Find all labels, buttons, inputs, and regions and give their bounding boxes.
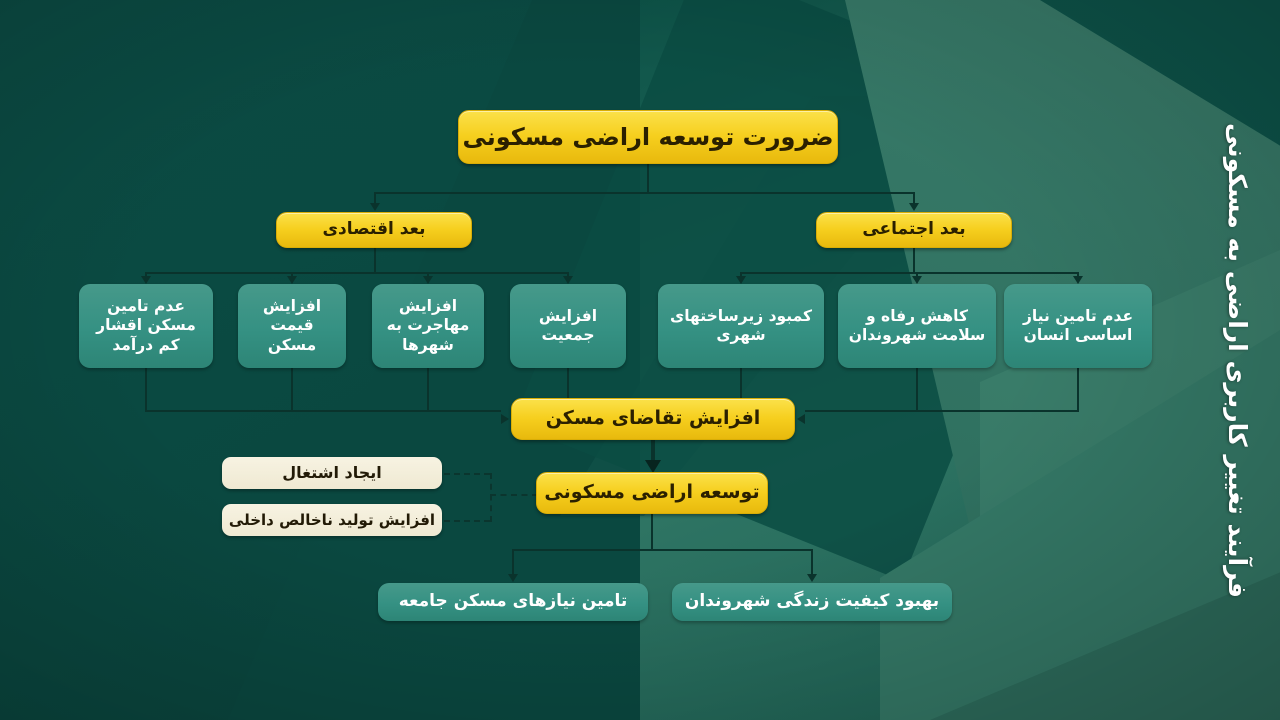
- connector-economic-branch-1: [145, 272, 147, 278]
- connector-to-social: [913, 192, 915, 204]
- connector-migration-down: [427, 368, 429, 410]
- watermark-text: فرآیند تغییر کاربری اراضی به مسکونی: [1223, 122, 1252, 597]
- arrow-to-social: [909, 203, 919, 211]
- arrow-migration: [423, 276, 433, 284]
- connector-demand-down: [651, 440, 655, 462]
- connector-to-economic: [374, 192, 376, 204]
- connector-social-branch-1: [740, 272, 742, 278]
- node-dimension-social[interactable]: بعد اجتماعی: [816, 212, 1012, 248]
- arrow-housing-needs: [508, 574, 518, 582]
- dashed-to-development-line: [490, 494, 538, 496]
- arrow-to-economic: [370, 203, 380, 211]
- watermark: فرآیند تغییر کاربری اراضی به مسکونی: [1202, 0, 1274, 720]
- node-title[interactable]: ضرورت توسعه اراضی مسکونی: [458, 110, 838, 164]
- node-dimension-economic[interactable]: بعد اقتصادی: [276, 212, 472, 248]
- node-housing-price[interactable]: افزایش قیمت مسکن: [238, 284, 346, 368]
- connector-economic-bar: [145, 272, 568, 274]
- connector-left-collect-stub: [145, 368, 147, 410]
- node-infrastructure[interactable]: کمبود زیرساختهای شهری: [658, 284, 824, 368]
- arrow-life-quality: [807, 574, 817, 582]
- connector-economic-branch-4: [567, 272, 569, 278]
- diagram-canvas: ضرورت توسعه اراضی مسکونی بعد اقتصادی بعد…: [0, 0, 1280, 720]
- dashed-sidebar-line: [490, 473, 492, 522]
- connector-to-housing-needs: [512, 549, 514, 575]
- arrow-right-into-demand: [797, 414, 805, 424]
- connector-left-collect-bar: [145, 410, 501, 412]
- connector-economic-branch-3: [427, 272, 429, 278]
- connector-social-branch-2: [916, 272, 918, 278]
- node-housing-needs[interactable]: تامین نیازهای مسکن جامعه: [378, 583, 648, 621]
- node-gdp[interactable]: افزایش تولید ناخالص داخلی: [222, 504, 442, 536]
- connector-economic-branch-2: [291, 272, 293, 278]
- arrow-population: [563, 276, 573, 284]
- node-migration[interactable]: افزایش مهاجرت به شهرها: [372, 284, 484, 368]
- connector-right-collect-bar: [805, 410, 1079, 412]
- node-population[interactable]: افزایش جمعیت: [510, 284, 626, 368]
- dashed-gdp-line: [444, 520, 490, 522]
- node-life-quality[interactable]: بهبود کیفیت زندگی شهروندان: [672, 583, 952, 621]
- node-housing-demand[interactable]: افزایش تقاضای مسکن: [511, 398, 795, 440]
- connector-basic-needs-down: [1077, 368, 1079, 410]
- node-welfare-health[interactable]: کاهش رفاه و سلامت شهروندان: [838, 284, 996, 368]
- node-low-income-housing[interactable]: عدم تامین مسکن اقشار کم درآمد: [79, 284, 213, 368]
- connector-social-branch-3: [1077, 272, 1079, 278]
- background-facet-top-right: [1040, 0, 1280, 280]
- connector-development-down: [651, 514, 653, 550]
- arrow-low-income-housing: [141, 276, 151, 284]
- connector-welfare-down: [916, 368, 918, 410]
- node-basic-needs[interactable]: عدم تامین نیاز اساسی انسان: [1004, 284, 1152, 368]
- connector-economic-down: [374, 248, 376, 272]
- dashed-employment-line: [444, 473, 490, 475]
- node-employment[interactable]: ایجاد اشتغال: [222, 457, 442, 489]
- arrow-left-into-demand: [501, 414, 509, 424]
- connector-housing-price-down: [291, 368, 293, 410]
- connector-outcomes-bar: [512, 549, 813, 551]
- node-land-development[interactable]: توسعه اراضی مسکونی: [536, 472, 768, 514]
- connector-dimensions-bar: [374, 192, 914, 194]
- arrow-housing-price: [287, 276, 297, 284]
- arrow-basic-needs: [1073, 276, 1083, 284]
- background-facet-corner: [930, 540, 1280, 720]
- background-facet-bottom-right: [880, 330, 1280, 720]
- arrow-infrastructure: [736, 276, 746, 284]
- connector-social-down: [913, 248, 915, 272]
- connector-social-bar: [740, 272, 1078, 274]
- arrow-welfare-health: [912, 276, 922, 284]
- connector-low-income-down: [145, 368, 147, 410]
- connector-to-life-quality: [811, 549, 813, 575]
- connector-title-down: [647, 164, 649, 192]
